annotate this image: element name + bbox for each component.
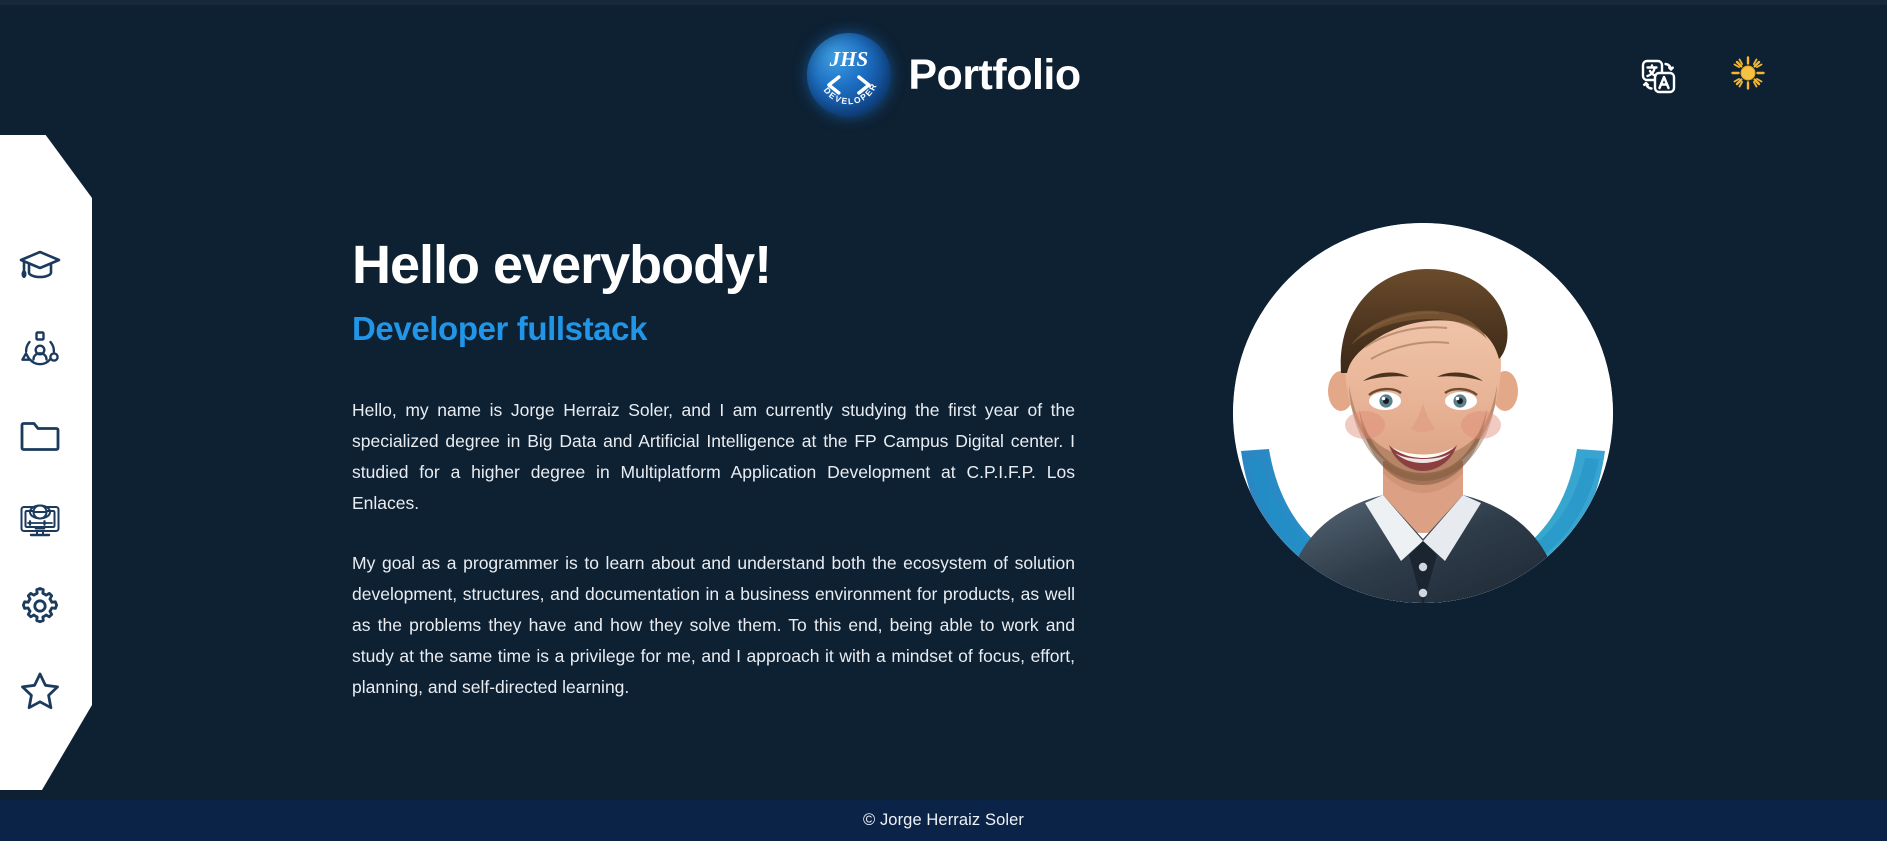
language-toggle[interactable] [1637, 55, 1679, 97]
profile-photo-illustration [1233, 223, 1613, 603]
intro-subheading: Developer fullstack [352, 309, 1075, 349]
intro-paragraph-2: My goal as a programmer is to learn abou… [352, 548, 1075, 704]
star-icon [17, 668, 63, 714]
window-top-strip [0, 0, 1887, 5]
brand[interactable]: JHS DEVELOPER Portfolio [806, 33, 1080, 117]
sidebar-item-favorites[interactable] [10, 665, 70, 717]
gear-icon [17, 583, 63, 629]
left-sidebar [0, 130, 92, 790]
profile-photo [1233, 223, 1613, 603]
header-actions [1637, 55, 1769, 97]
main-content: Hello everybody! Developer fullstack Hel… [92, 135, 1887, 800]
page-title: Portfolio [908, 54, 1080, 97]
sidebar-item-skills[interactable] [10, 325, 70, 377]
sidebar-item-settings[interactable] [10, 580, 70, 632]
copyright-text: © Jorge Herraiz Soler [863, 811, 1024, 830]
monitor-globe-icon [17, 498, 63, 544]
page-header: JHS DEVELOPER Portfolio [0, 5, 1887, 135]
intro-section: Hello everybody! Developer fullstack Hel… [352, 235, 1075, 703]
translate-icon [1638, 56, 1678, 96]
folder-icon [17, 413, 63, 459]
sidebar-item-projects[interactable] [10, 410, 70, 462]
intro-paragraph-1: Hello, my name is Jorge Herraiz Soler, a… [352, 395, 1075, 520]
skills-person-icon [17, 328, 63, 374]
page-footer: © Jorge Herraiz Soler [0, 800, 1887, 841]
sidebar-item-education[interactable] [10, 240, 70, 292]
intro-heading: Hello everybody! [352, 235, 1075, 295]
jhs-developer-logo[interactable]: JHS DEVELOPER [806, 33, 890, 117]
graduation-cap-icon [17, 243, 63, 289]
sun-icon [1730, 55, 1766, 97]
theme-toggle[interactable] [1727, 55, 1769, 97]
sun-icon-glyph [1730, 55, 1766, 91]
sidebar-item-web[interactable] [10, 495, 70, 547]
svg-text:JHS: JHS [828, 47, 868, 71]
